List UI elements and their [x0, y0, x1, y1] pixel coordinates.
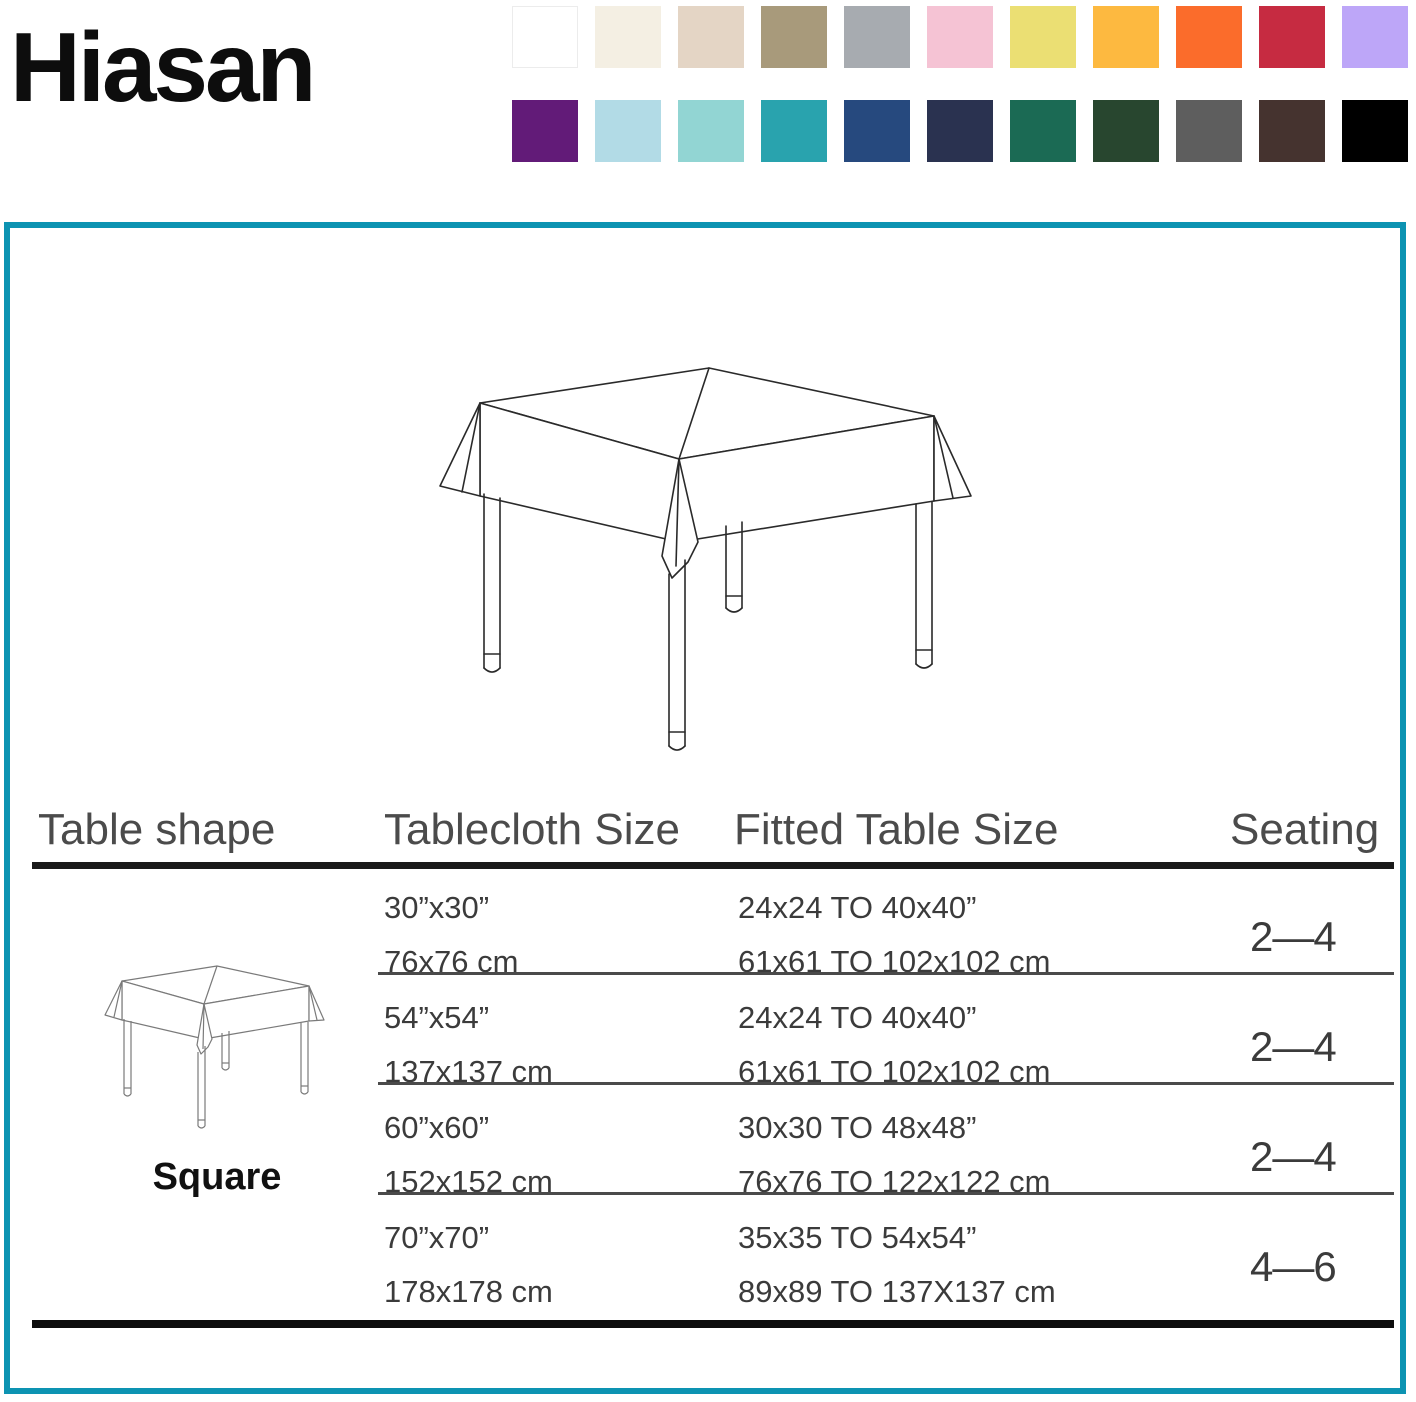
cell-seating-0: 2—4 [1250, 916, 1336, 958]
color-swatch-lavender[interactable] [1342, 6, 1408, 68]
cell-fitted-in-0: 24x24 TO 40x40” [738, 892, 976, 923]
color-swatch-aqua-mint[interactable] [678, 100, 744, 162]
swatch-row-1 [512, 6, 1412, 68]
cell-fitted-in-2: 30x30 TO 48x48” [738, 1112, 976, 1143]
cell-fitted-cm-3: 89x89 TO 137X137 cm [738, 1276, 1056, 1307]
color-swatch-purple[interactable] [512, 100, 578, 162]
cell-tablecloth-in-1: 54”x54” [384, 1002, 489, 1033]
row-divider-2 [378, 1192, 1394, 1195]
color-swatch-ivory[interactable] [595, 6, 661, 68]
color-swatch-charcoal-grey[interactable] [1176, 100, 1242, 162]
column-header-tablecloth-size: Tablecloth Size [384, 808, 680, 852]
cell-tablecloth-in-2: 60”x60” [384, 1112, 489, 1143]
cell-tablecloth-in-3: 70”x70” [384, 1222, 489, 1253]
row-divider-0 [378, 972, 1394, 975]
table-shape-cell: Square [72, 958, 372, 1228]
cell-seating-1: 2—4 [1250, 1026, 1336, 1068]
color-swatch-taupe[interactable] [761, 6, 827, 68]
color-swatch-silver-grey[interactable] [844, 6, 910, 68]
table-header-divider [32, 862, 1394, 869]
color-swatch-emerald-green[interactable] [1010, 100, 1076, 162]
color-swatch-light-blue[interactable] [595, 100, 661, 162]
color-swatch-dark-brown[interactable] [1259, 100, 1325, 162]
color-swatch-orange[interactable] [1176, 6, 1242, 68]
square-table-illustration [426, 346, 986, 786]
size-guide-panel: Table shape Tablecloth Size Fitted Table… [4, 222, 1406, 1394]
color-swatch-grid [512, 6, 1412, 166]
color-swatch-beige[interactable] [678, 6, 744, 68]
column-header-seating: Seating [1230, 808, 1379, 852]
brand-logo: Hiasan [10, 18, 313, 116]
cell-seating-2: 2—4 [1250, 1136, 1336, 1178]
column-header-table-shape: Table shape [38, 808, 275, 852]
brand-header: Hiasan [0, 0, 1416, 200]
cell-fitted-in-3: 35x35 TO 54x54” [738, 1222, 976, 1253]
color-swatch-marigold[interactable] [1093, 6, 1159, 68]
cell-tablecloth-in-0: 30”x30” [384, 892, 489, 923]
cell-fitted-in-1: 24x24 TO 40x40” [738, 1002, 976, 1033]
color-swatch-dark-navy[interactable] [927, 100, 993, 162]
table-footer-divider [32, 1320, 1394, 1328]
swatch-row-2 [512, 100, 1412, 162]
color-swatch-blush-pink[interactable] [927, 6, 993, 68]
column-header-fitted-table-size: Fitted Table Size [734, 808, 1058, 852]
color-swatch-white[interactable] [512, 6, 578, 68]
cell-seating-3: 4—6 [1250, 1246, 1336, 1288]
size-chart-table: Table shape Tablecloth Size Fitted Table… [28, 808, 1396, 1368]
color-swatch-navy-blue[interactable] [844, 100, 910, 162]
color-swatch-teal[interactable] [761, 100, 827, 162]
cell-tablecloth-cm-3: 178x178 cm [384, 1276, 553, 1307]
table-shape-label: Square [72, 1156, 362, 1199]
color-swatch-crimson-red[interactable] [1259, 6, 1325, 68]
color-swatch-black[interactable] [1342, 100, 1408, 162]
row-divider-1 [378, 1082, 1394, 1085]
square-table-icon [94, 958, 344, 1148]
color-swatch-hunter-green[interactable] [1093, 100, 1159, 162]
color-swatch-pale-yellow[interactable] [1010, 6, 1076, 68]
